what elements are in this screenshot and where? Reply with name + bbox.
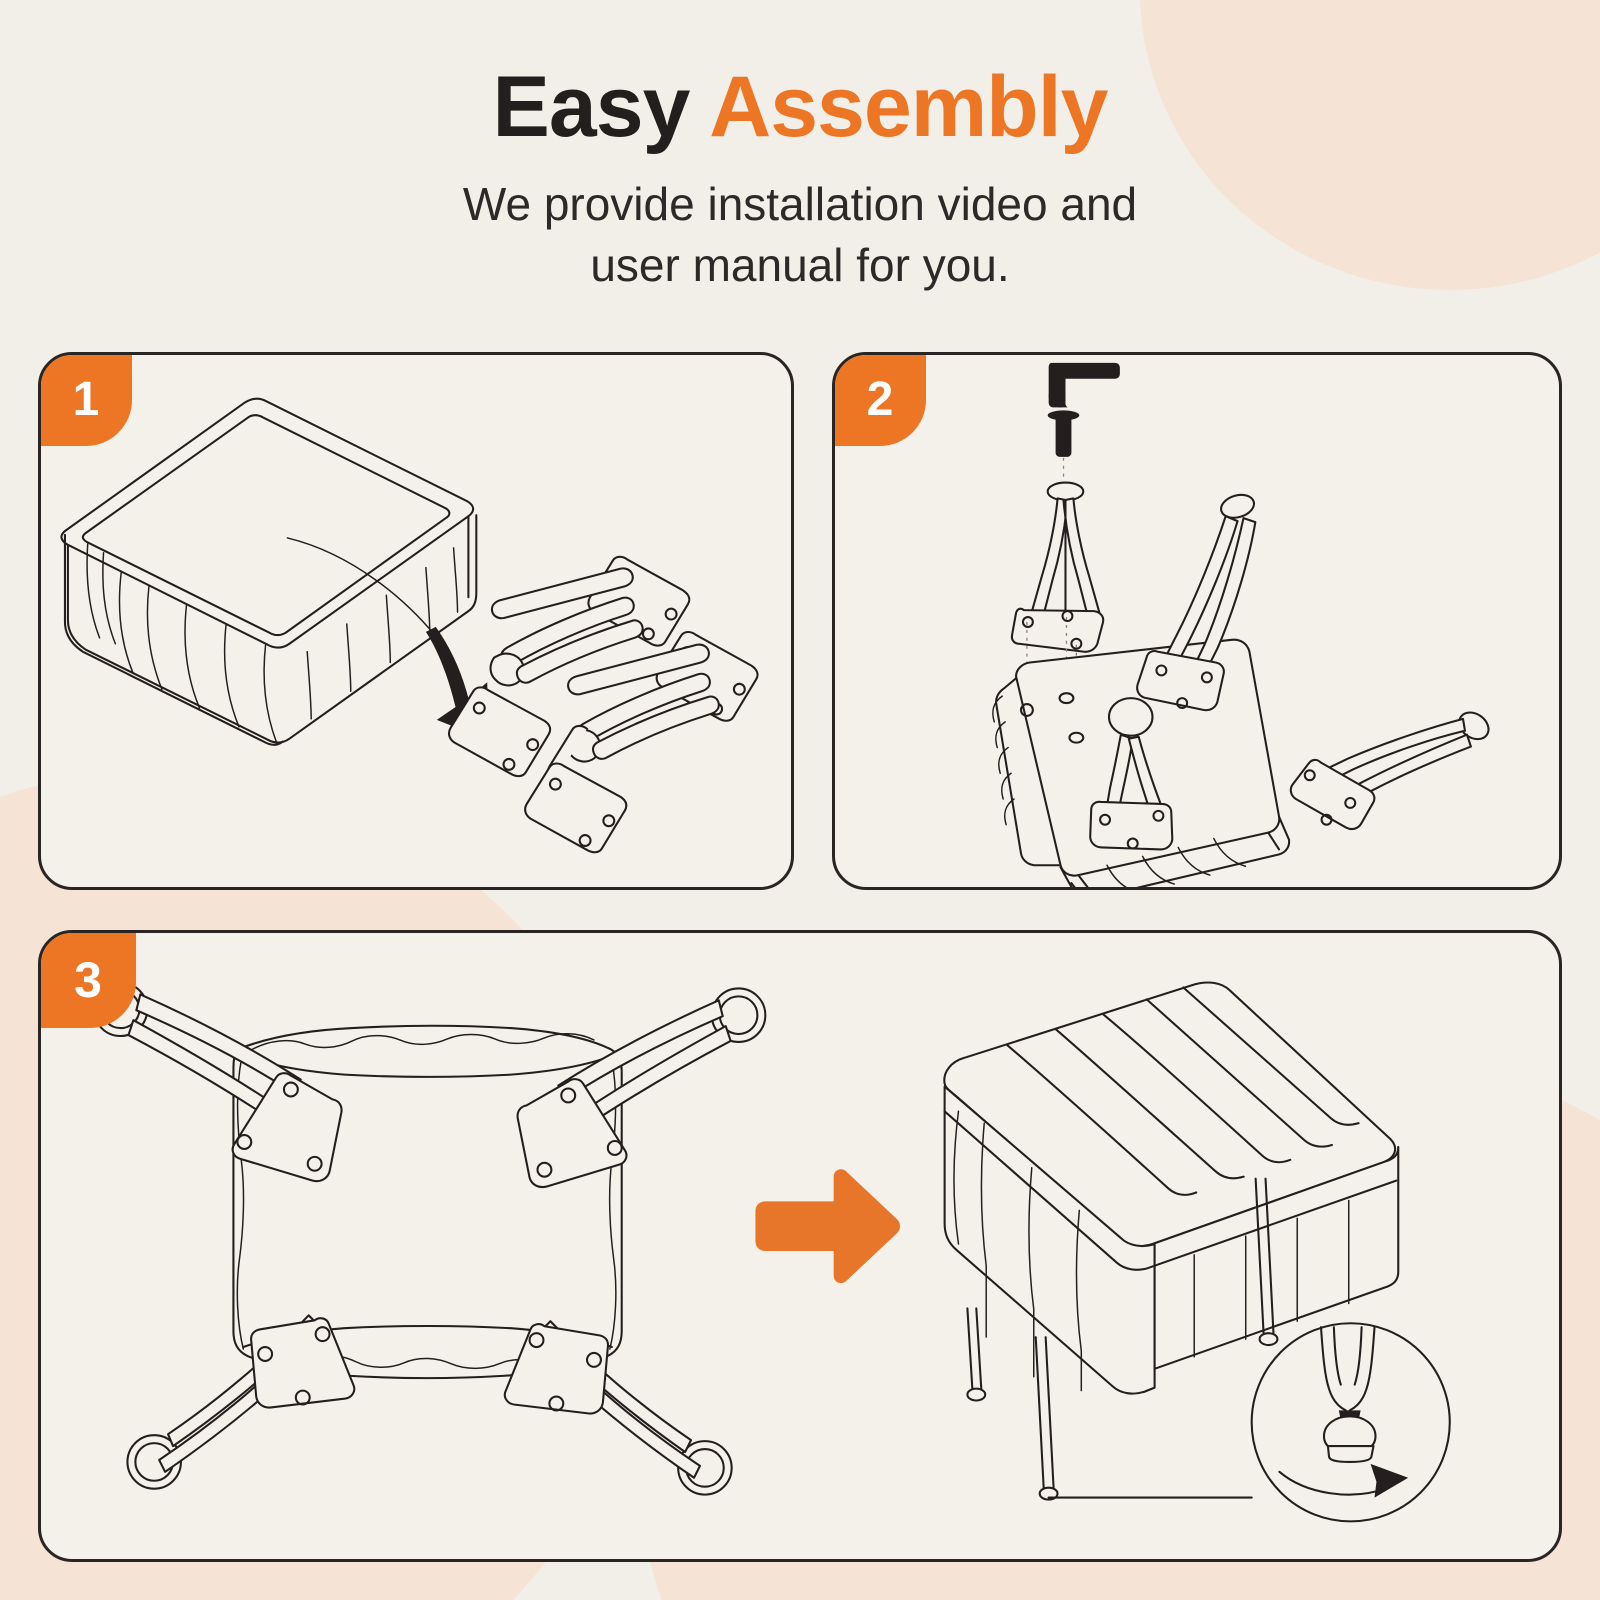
header: Easy Assembly We provide installation vi… (0, 0, 1600, 296)
title-part-assembly: Assembly (709, 59, 1107, 155)
allen-key-icon (1049, 363, 1120, 407)
step-card-1: 1 (38, 352, 794, 890)
hairpin-leg-icon (94, 983, 342, 1182)
bolt-icon (1048, 410, 1080, 456)
hairpin-leg-icon (518, 988, 766, 1187)
step-card-2: 2 (832, 352, 1562, 890)
hairpin-leg-icon (1012, 483, 1103, 652)
step-2-illustration (835, 355, 1559, 887)
subtitle-line-2: user manual for you. (590, 239, 1009, 291)
hairpin-leg-icon (1036, 1337, 1058, 1499)
page-title: Easy Assembly (0, 0, 1600, 152)
step-number-badge-2: 2 (834, 354, 926, 446)
detail-magnifier-icon (1252, 1323, 1450, 1521)
ottoman-body-icon (61, 399, 476, 745)
subtitle-line-1: We provide installation video and (463, 178, 1137, 230)
step-3-illustration (41, 933, 1559, 1559)
page-subtitle: We provide installation video and user m… (0, 152, 1600, 295)
step-number-badge-1: 1 (40, 354, 132, 446)
hairpin-leg-icon (1291, 707, 1494, 829)
step-number-badge-3: 3 (40, 932, 136, 1028)
orange-right-arrow-icon (755, 1169, 900, 1283)
step-1-illustration (41, 355, 791, 887)
title-part-easy: Easy (493, 59, 710, 155)
hairpin-leg-icon (967, 1308, 985, 1400)
step-card-3: 3 (38, 930, 1562, 1562)
assembly-infographic: Easy Assembly We provide installation vi… (0, 0, 1600, 1600)
